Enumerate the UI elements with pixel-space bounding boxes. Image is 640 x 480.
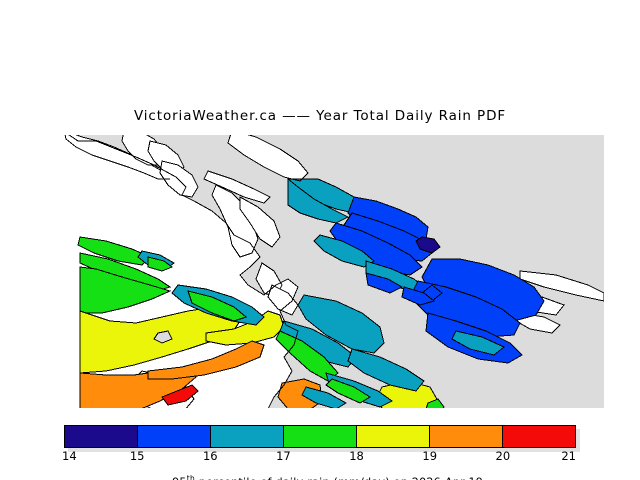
caption-prefix: 95 [172, 476, 187, 480]
colorbar-segment-16-17 [211, 426, 284, 447]
colorbar-segment-17-18 [284, 426, 357, 447]
caption-superscript: th [187, 474, 195, 480]
colorbar-caption: 95th percentile of daily rain (mm/day) o… [0, 461, 640, 480]
caption-rest: percentile of daily rain (mm/day) on 202… [195, 476, 483, 480]
colorbar-segment-19-20 [430, 426, 503, 447]
colorbar [64, 425, 576, 448]
colorbar-segments [64, 425, 576, 448]
colorbar-segment-15-16 [138, 426, 211, 447]
colorbar-segment-20-21 [503, 426, 575, 447]
colorbar-segment-14-15 [65, 426, 138, 447]
page-title: VictoriaWeather.ca —— Year Total Daily R… [0, 108, 640, 124]
weather-map-page: VictoriaWeather.ca —— Year Total Daily R… [0, 0, 640, 480]
map-panel [36, 135, 604, 408]
colorbar-segment-18-19 [357, 426, 430, 447]
map-graphic [36, 135, 604, 408]
